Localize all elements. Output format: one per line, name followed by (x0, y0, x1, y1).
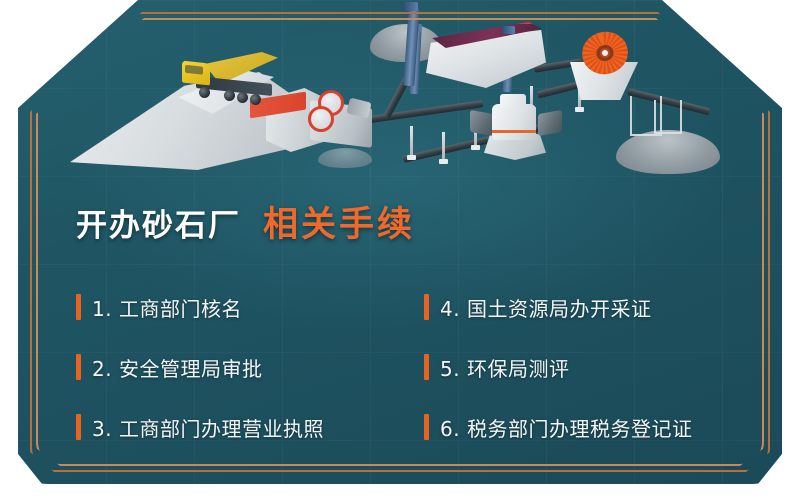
bullet-marker-icon (76, 414, 81, 440)
aggregate-pile-icon (370, 24, 442, 62)
conveyor-leg-icon (474, 122, 477, 146)
vsi-base-icon (484, 134, 546, 160)
dump-truck-cab-icon (182, 61, 210, 86)
text-content: 开办砂石厂 相关手续 1. 工商部门核名 4. 国土资源局办开采证 2. 安全管… (76, 196, 776, 457)
procedure-list: 1. 工商部门核名 4. 国土资源局办开采证 2. 安全管理局审批 5. 环保局… (76, 277, 776, 457)
list-item: 3. 工商部门办理营业执照 (76, 413, 424, 442)
truck-wheel-icon (199, 87, 210, 98)
vibrating-feeder-icon (250, 92, 306, 119)
screen-leg-cap-icon (502, 26, 515, 34)
list-item: 5. 环保局测评 (424, 353, 772, 382)
banner-image: 开办砂石厂 相关手续 1. 工商部门核名 4. 国土资源局办开采证 2. 安全管… (0, 0, 800, 500)
aggregate-pile-icon (318, 148, 372, 168)
truck-wheel-icon (237, 92, 248, 103)
aggregate-pile-icon (616, 130, 720, 174)
teal-panel: 开办砂石厂 相关手续 1. 工商部门核名 4. 国土资源局办开采证 2. 安全管… (18, 0, 782, 484)
elevator-cap-icon (402, 2, 418, 11)
jaw-crusher-icon (310, 100, 372, 148)
list-item-label: 2. 安全管理局审批 (92, 353, 262, 382)
list-item-label: 6. 税务部门办理税务登记证 (440, 413, 692, 442)
conveyor-leg-icon (442, 132, 445, 160)
belt-conveyor-icon (534, 58, 583, 72)
vsi-motor-icon (470, 110, 494, 136)
belt-conveyor-icon (383, 76, 410, 118)
vsi-feed-inlet-icon (500, 94, 526, 108)
list-item-label: 3. 工商部门办理营业执照 (92, 413, 324, 442)
vsi-motor-icon (538, 110, 562, 136)
dump-truck-chassis-icon (196, 76, 272, 96)
stockpile-ramp-icon (70, 72, 290, 170)
list-item: 2. 安全管理局审批 (76, 353, 424, 382)
conveyor-leg-icon (530, 86, 533, 108)
truck-wheel-icon (224, 90, 235, 101)
title-primary: 开办砂石厂 (76, 200, 241, 245)
vsi-sand-maker-icon (492, 104, 536, 140)
jaw-crusher-flywheel-icon (318, 90, 344, 116)
belt-conveyor-icon (627, 88, 710, 115)
banner-title: 开办砂石厂 相关手续 (76, 196, 776, 247)
feeding-hopper-icon (266, 88, 328, 152)
list-item-label: 5. 环保局测评 (440, 353, 569, 382)
title-accent: 相关手续 (263, 196, 415, 247)
belt-conveyor-icon (356, 100, 484, 125)
bullet-marker-icon (76, 294, 81, 320)
screen-support-leg-icon (502, 30, 514, 92)
wheel-sand-washer-icon (578, 28, 632, 79)
screen-support-leg-icon (409, 28, 421, 94)
list-item: 1. 工商部门核名 (76, 293, 424, 322)
truck-wheel-icon (250, 94, 261, 105)
ramp-top-surface-icon (168, 70, 274, 114)
list-item-label: 4. 国土资源局办开采证 (440, 293, 651, 322)
vibrating-screen-icon (426, 30, 546, 88)
support-truss-icon (654, 100, 682, 134)
list-item: 6. 税务部门办理税务登记证 (424, 413, 772, 442)
screen-leg-cap-icon (409, 24, 422, 32)
jaw-crusher-flywheel-icon (308, 106, 334, 132)
conveyor-leg-icon (410, 126, 413, 156)
elevator-column-icon (403, 8, 419, 87)
bullet-marker-icon (424, 414, 429, 440)
bullet-marker-icon (76, 354, 81, 380)
bullet-marker-icon (424, 294, 429, 320)
support-truss-icon (630, 96, 662, 136)
conveyor-leg-icon (578, 88, 581, 108)
sand-washer-hub-icon (600, 48, 610, 58)
vibrating-screen-deck-icon (430, 22, 542, 48)
jaw-crusher-motor-icon (346, 98, 371, 119)
belt-conveyor-icon (537, 78, 593, 98)
dump-truck-bed-icon (204, 52, 278, 84)
sand-washer-tank-icon (570, 62, 638, 100)
bullet-marker-icon (424, 354, 429, 380)
list-item-label: 1. 工商部门核名 (92, 293, 242, 322)
list-item: 4. 国土资源局办开采证 (424, 293, 772, 322)
belt-conveyor-icon (403, 124, 543, 163)
